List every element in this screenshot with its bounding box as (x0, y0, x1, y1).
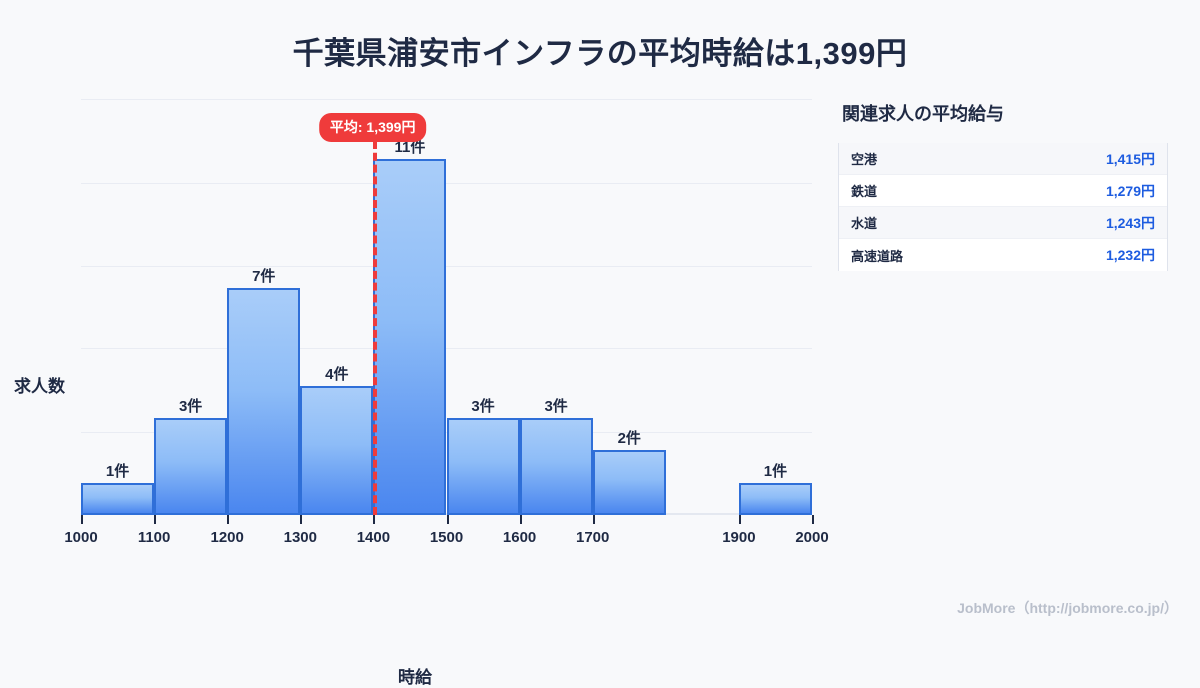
related-job-row[interactable]: 高速道路1,232円 (839, 239, 1167, 271)
histogram-chart: 求人数 1件3件7件4件11件3件3件2件1件10001100120013001… (0, 90, 830, 590)
x-axis-tick-label: 2000 (795, 529, 828, 546)
bar-value-label: 3件 (471, 395, 494, 416)
related-job-label: 空港 (851, 149, 877, 168)
related-job-value: 1,415円 (1106, 149, 1155, 169)
histogram-bar[interactable] (300, 386, 373, 515)
gridline (81, 348, 812, 349)
related-job-row[interactable]: 水道1,243円 (839, 207, 1167, 239)
bar-value-label: 3件 (179, 395, 202, 416)
bar-value-label: 4件 (325, 363, 348, 384)
x-axis-tick (81, 515, 83, 524)
x-axis-tick (227, 515, 229, 524)
x-axis-tick-label: 1200 (211, 529, 244, 546)
footer-attribution: JobMore（http://jobmore.co.jp/） (957, 598, 1178, 618)
related-jobs-table: 空港1,415円鉄道1,279円水道1,243円高速道路1,232円 (838, 143, 1168, 271)
bar-value-label: 3件 (544, 395, 567, 416)
x-axis-tick-label: 1300 (284, 529, 317, 546)
related-job-row[interactable]: 鉄道1,279円 (839, 175, 1167, 207)
histogram-bar[interactable] (593, 450, 666, 515)
x-axis-tick-label: 1400 (357, 529, 390, 546)
x-axis-tick-label: 1900 (722, 529, 755, 546)
related-job-row[interactable]: 空港1,415円 (839, 143, 1167, 175)
histogram-bar[interactable] (373, 159, 446, 515)
gridline (81, 183, 812, 184)
average-badge: 平均: 1,399円 (319, 113, 427, 142)
bar-value-label: 1件 (106, 460, 129, 481)
x-axis-tick (593, 515, 595, 524)
related-jobs-panel: 関連求人の平均給与 空港1,415円鉄道1,279円水道1,243円高速道路1,… (838, 100, 1168, 271)
x-axis-tick-label: 1600 (503, 529, 536, 546)
x-axis-tick-label: 1100 (138, 529, 171, 546)
x-axis-tick (520, 515, 522, 524)
related-job-value: 1,243円 (1106, 213, 1155, 233)
histogram-bar[interactable] (447, 418, 520, 515)
bar-value-label: 2件 (618, 427, 641, 448)
related-job-label: 高速道路 (851, 246, 903, 265)
x-axis-tick-label: 1000 (64, 529, 97, 546)
average-line (373, 141, 377, 515)
bar-value-label: 1件 (764, 460, 787, 481)
histogram-bar[interactable] (520, 418, 593, 515)
plot-area: 1件3件7件4件11件3件3件2件1件100011001200130014001… (81, 99, 812, 515)
histogram-bar[interactable] (81, 483, 154, 515)
histogram-bar[interactable] (739, 483, 812, 515)
x-axis-tick (373, 515, 375, 524)
related-jobs-title: 関連求人の平均給与 (842, 100, 1168, 126)
related-job-value: 1,232円 (1106, 245, 1155, 265)
bar-value-label: 7件 (252, 265, 275, 286)
related-job-label: 水道 (851, 213, 877, 232)
x-axis-tick (447, 515, 449, 524)
gridline (81, 266, 812, 267)
related-job-label: 鉄道 (851, 181, 877, 200)
x-axis-tick-label: 1700 (576, 529, 609, 546)
x-axis-tick-label: 1500 (430, 529, 463, 546)
x-axis-tick (300, 515, 302, 524)
histogram-bar[interactable] (227, 288, 300, 515)
histogram-bar[interactable] (154, 418, 227, 515)
x-axis-title: 時給 (0, 663, 830, 688)
x-axis-tick (812, 515, 814, 524)
page-title: 千葉県浦安市インフラの平均時給は1,399円 (0, 28, 1200, 73)
y-axis-title: 求人数 (14, 372, 65, 397)
x-axis-tick (739, 515, 741, 524)
x-axis-tick (154, 515, 156, 524)
related-job-value: 1,279円 (1106, 181, 1155, 201)
gridline (81, 99, 812, 100)
